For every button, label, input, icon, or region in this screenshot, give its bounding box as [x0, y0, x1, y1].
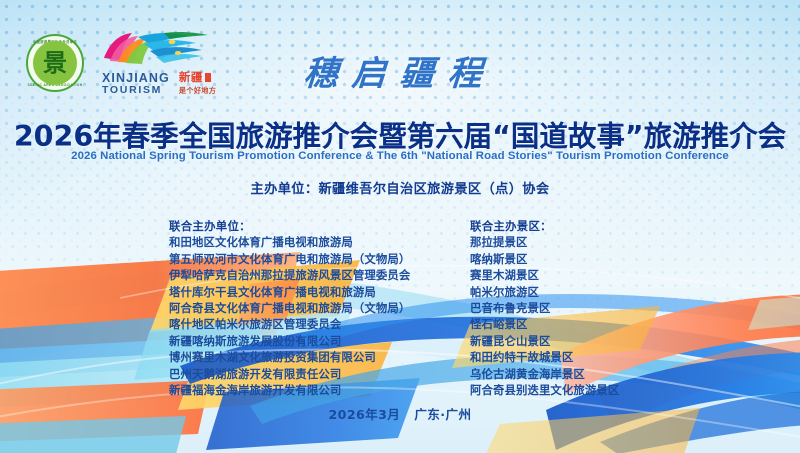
list-item: 巴州天鹅湖旅游开发有限责任公司	[169, 366, 410, 382]
list-item: 阿合奇县别迭里文化旅游景区	[470, 382, 619, 398]
list-item: 伊犁哈萨克自治州那拉提旅游风景区管理委员会	[169, 267, 410, 283]
list-item: 巴音布鲁克景区	[470, 300, 619, 316]
footer-line: 2026年3月广东·广州	[0, 404, 800, 423]
list-item: 喀纳斯景区	[470, 251, 619, 267]
co-organizers-heading: 联合主办单位：	[169, 218, 410, 234]
host-organization-line: 主办单位：新疆维吾尔自治区旅游景区（点）协会	[0, 178, 800, 197]
list-item: 怪石峪景区	[470, 316, 619, 332]
organizer-columns: 联合主办单位： 和田地区文化体育广播电视和旅游局 第五师双河市文化体育广电和旅游…	[0, 218, 800, 383]
list-item: 新疆福海金海岸旅游开发有限公司	[169, 382, 410, 398]
scenic-areas-heading: 联合主办景区：	[470, 218, 619, 234]
list-item: 乌伦古湖黄金海岸景区	[470, 366, 619, 382]
calligraphy-title: 穗启疆程	[0, 46, 800, 95]
list-item: 第五师双河市文化体育广电和旅游局（文物局）	[169, 251, 410, 267]
footer-place: 广东·广州	[414, 407, 471, 422]
list-item: 塔什库尔干县文化体育广播电视和旅游局	[169, 284, 410, 300]
poster-canvas: 中国旅游景区协会会员单位 SCENIC AREA ASSOCIATION 景	[0, 0, 800, 453]
list-item: 喀什地区帕米尔旅游区管理委员会	[169, 316, 410, 332]
list-item: 赛里木湖景区	[470, 267, 619, 283]
list-item: 博州赛里木湖文化旅游投资集团有限公司	[169, 349, 410, 365]
list-item: 新疆昆仑山景区	[470, 333, 619, 349]
page-title: 2026年春季全国旅游推介会暨第六届“国道故事”旅游推介会	[0, 114, 800, 155]
list-item: 阿合奇县文化体育广播电视和旅游局（文物局）	[169, 300, 410, 316]
list-item: 那拉提景区	[470, 234, 619, 250]
co-organizers-column: 联合主办单位： 和田地区文化体育广播电视和旅游局 第五师双河市文化体育广电和旅游…	[169, 218, 410, 398]
list-item: 和田约特干故城景区	[470, 349, 619, 365]
list-item: 新疆喀纳斯旅游发展股份有限公司	[169, 333, 410, 349]
list-item: 帕米尔旅游区	[470, 284, 619, 300]
co-organizing-scenic-areas-column: 联合主办景区： 那拉提景区 喀纳斯景区 赛里木湖景区 帕米尔旅游区 巴音布鲁克景…	[470, 218, 619, 398]
footer-date: 2026年3月	[329, 407, 401, 422]
list-item: 和田地区文化体育广播电视和旅游局	[169, 234, 410, 250]
english-subtitle: 2026 National Spring Tourism Promotion C…	[0, 150, 800, 162]
